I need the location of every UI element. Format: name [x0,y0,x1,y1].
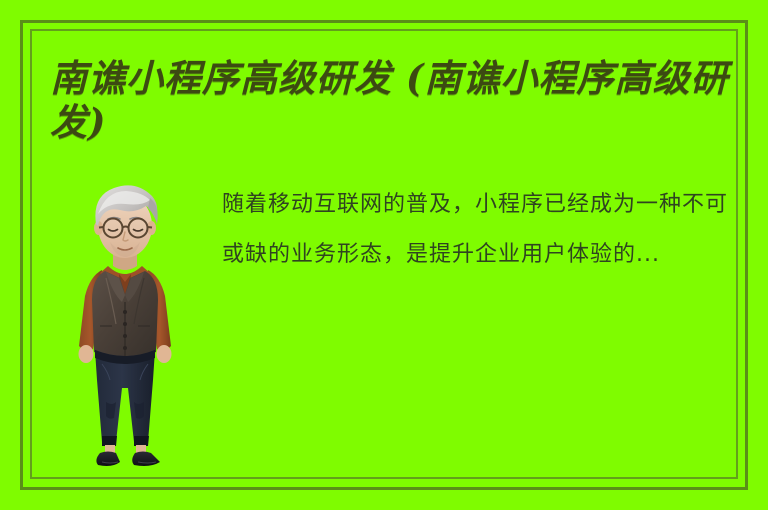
content-area: 随着移动互联网的普及，小程序已经成为一种不可或缺的业务形态，是提升企业用户体验的… [50,172,742,482]
page-title: 南谯小程序高级研发 (南谯小程序高级研发) [50,56,740,144]
man-illustration [50,174,200,474]
description-text: 随着移动互联网的普及，小程序已经成为一种不可或缺的业务形态，是提升企业用户体验的… [222,180,742,280]
poster-card: 南谯小程序高级研发 (南谯小程序高级研发) [0,0,768,510]
